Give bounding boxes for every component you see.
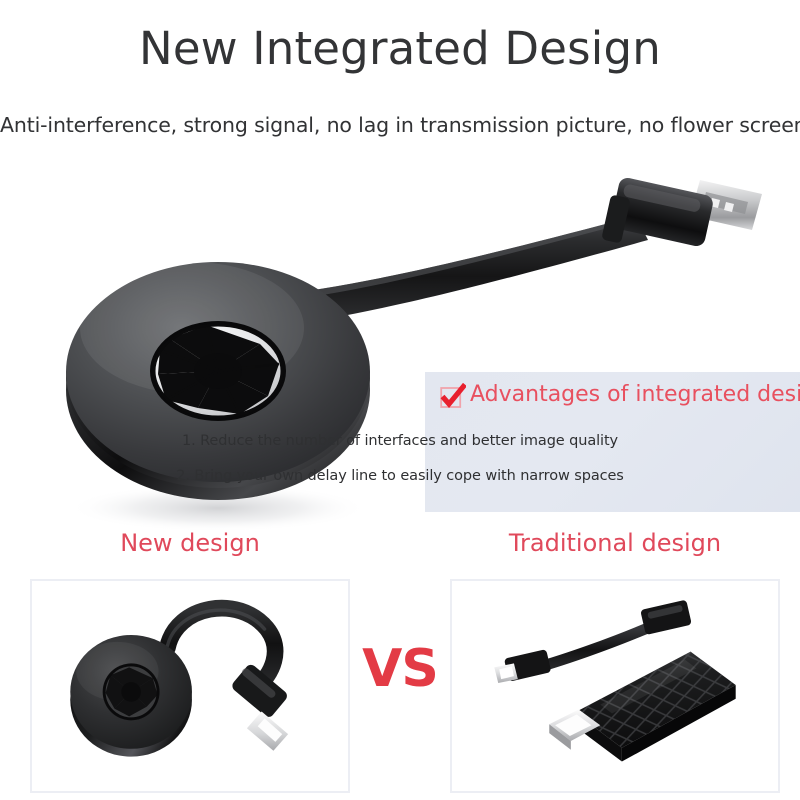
comparison-panel-traditional-design bbox=[450, 579, 780, 793]
wireless-display-dongle-round bbox=[66, 262, 370, 500]
page-title: New Integrated Design bbox=[0, 24, 800, 74]
comparison-label-traditional-design: Traditional design bbox=[450, 529, 780, 557]
page-subtitle: Anti-interference, strong signal, no lag… bbox=[0, 113, 800, 137]
comparison-label-new-design: New design bbox=[30, 529, 350, 557]
round-dongle-with-attached-hdmi-icon bbox=[32, 581, 348, 791]
comparison-panel-new-design bbox=[30, 579, 350, 793]
advantage-item: 2. Bring your own delay line to easily c… bbox=[0, 468, 800, 484]
advantages-heading-row: Advantages of integrated design bbox=[425, 380, 800, 412]
checkbox-checked-icon bbox=[440, 383, 466, 409]
advantage-item: 1. Reduce the number of interfaces and b… bbox=[0, 433, 800, 449]
camera-aperture-icon bbox=[150, 321, 286, 421]
stick-dongle-with-separate-hdmi-cable-icon bbox=[452, 581, 778, 791]
vs-badge: VS bbox=[355, 638, 445, 700]
advantages-heading: Advantages of integrated design bbox=[470, 380, 800, 410]
